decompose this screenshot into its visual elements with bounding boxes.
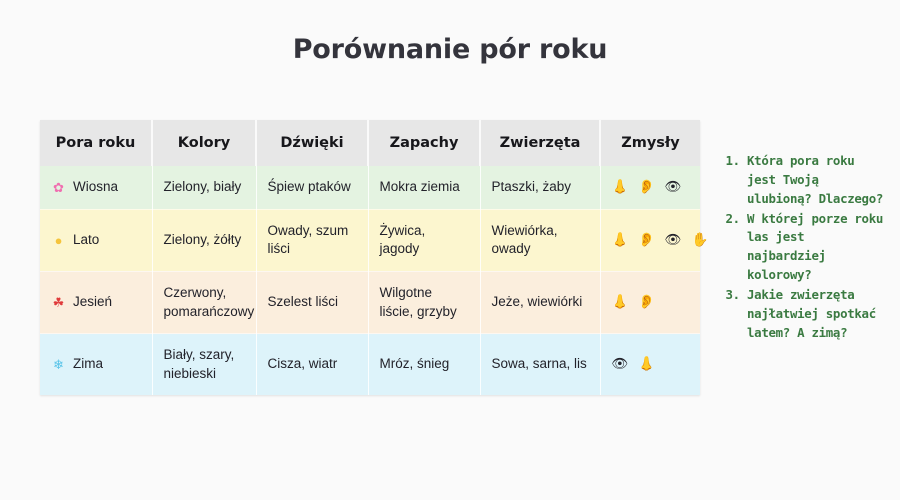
column-header-zmysly: Zmysły	[600, 120, 700, 166]
senses-cell: 👃 👂 👁 ✋	[600, 209, 700, 271]
column-header-zapachy: Zapachy	[368, 120, 480, 166]
column-header-zwierzeta: Zwierzęta	[480, 120, 600, 166]
table-row: ❄Zima Biały, szary, niebieski Cisza, wia…	[40, 334, 700, 396]
smells-cell: Żywica, jagody	[368, 209, 480, 271]
sun-icon: ●	[51, 234, 66, 247]
season-cell: ●Lato	[40, 209, 152, 271]
season-cell: ☘Jesień	[40, 271, 152, 333]
table-header-row: Pora roku Kolory Dźwięki Zapachy Zwierzę…	[40, 120, 700, 166]
smells-cell: Wilgotne liście, grzyby	[368, 271, 480, 333]
table-header: Pora roku Kolory Dźwięki Zapachy Zwierzę…	[40, 120, 700, 166]
smells-cell: Mokra ziemia	[368, 166, 480, 209]
sounds-cell: Śpiew ptaków	[256, 166, 368, 209]
column-header-dzwieki: Dźwięki	[256, 120, 368, 166]
animals-cell: Sowa, sarna, lis	[480, 334, 600, 396]
page-title: Porównanie pór roku	[0, 34, 900, 65]
comparison-table: Pora roku Kolory Dźwięki Zapachy Zwierzę…	[40, 120, 700, 395]
senses-cell: 👃 👂 👁	[600, 166, 700, 209]
sounds-cell: Szelest liści	[256, 271, 368, 333]
table-row: ☘Jesień Czerwony, pomarańczowy Szelest l…	[40, 271, 700, 333]
animals-cell: Jeże, wiewiórki	[480, 271, 600, 333]
discussion-questions: Która pora roku jest Twoją ulubioną? Dla…	[730, 152, 890, 343]
season-cell: ✿Wiosna	[40, 166, 152, 209]
colors-cell: Zielony, biały	[152, 166, 256, 209]
animals-cell: Wiewiórka, owady	[480, 209, 600, 271]
maple-leaf-icon: ☘	[51, 296, 66, 309]
season-label: Zima	[73, 355, 103, 374]
season-label: Wiosna	[73, 178, 118, 197]
table-body: ✿Wiosna Zielony, biały Śpiew ptaków Mokr…	[40, 166, 700, 395]
smells-cell: Mróz, śnieg	[368, 334, 480, 396]
colors-cell: Czerwony, pomarańczowy	[152, 271, 256, 333]
list-item: W której porze roku las jest najbardziej…	[747, 210, 890, 285]
table-row: ●Lato Zielony, żółty Owady, szum liści Ż…	[40, 209, 700, 271]
snowflake-icon: ❄	[51, 358, 66, 371]
table-row: ✿Wiosna Zielony, biały Śpiew ptaków Mokr…	[40, 166, 700, 209]
senses-cell: 👁 👃	[600, 334, 700, 396]
colors-cell: Biały, szary, niebieski	[152, 334, 256, 396]
sounds-cell: Cisza, wiatr	[256, 334, 368, 396]
column-header-kolory: Kolory	[152, 120, 256, 166]
list-item: Która pora roku jest Twoją ulubioną? Dla…	[747, 152, 890, 209]
season-label: Jesień	[73, 293, 112, 312]
cherry-blossom-icon: ✿	[51, 181, 66, 194]
questions-list: Która pora roku jest Twoją ulubioną? Dla…	[730, 152, 890, 342]
colors-cell: Zielony, żółty	[152, 209, 256, 271]
column-header-pora-roku: Pora roku	[40, 120, 152, 166]
comparison-table-container: Pora roku Kolory Dźwięki Zapachy Zwierzę…	[40, 120, 700, 395]
slide-canvas: Porównanie pór roku Pora roku Kolory Dźw…	[0, 0, 900, 500]
season-cell: ❄Zima	[40, 334, 152, 396]
sounds-cell: Owady, szum liści	[256, 209, 368, 271]
senses-cell: 👃 👂	[600, 271, 700, 333]
season-label: Lato	[73, 231, 99, 250]
list-item: Jakie zwierzęta najłatwiej spotkać latem…	[747, 286, 890, 343]
animals-cell: Ptaszki, żaby	[480, 166, 600, 209]
